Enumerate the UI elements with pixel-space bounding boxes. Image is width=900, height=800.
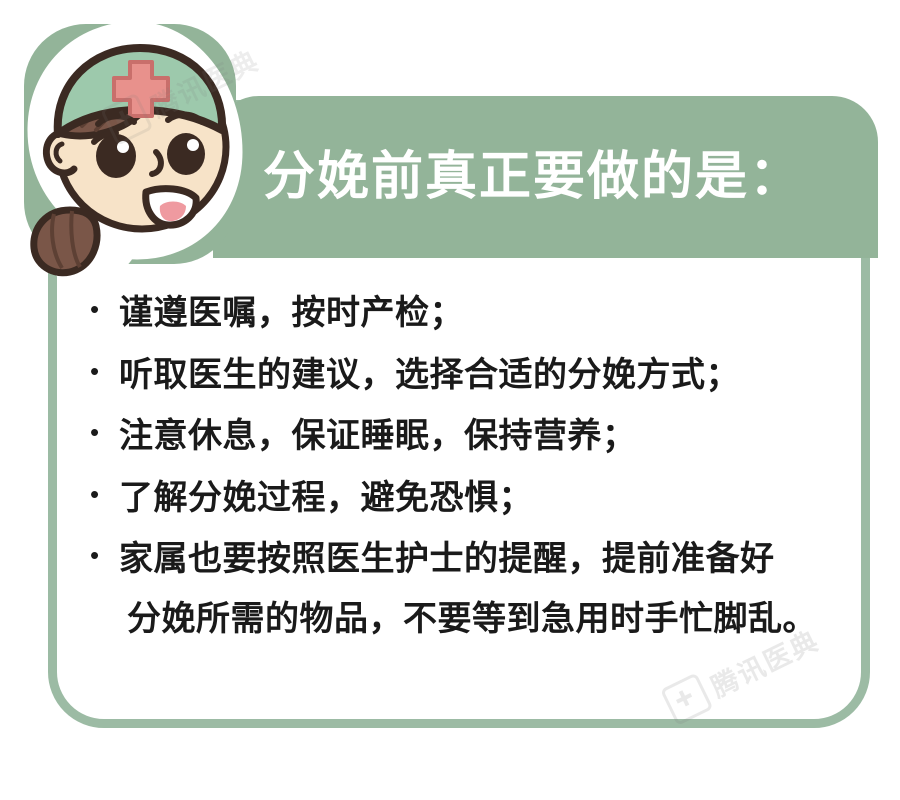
bullet-marker-icon: • <box>90 415 119 432</box>
list-item-text: 了解分娩过程，避免恐惧； <box>119 477 860 521</box>
list-item: • 谨遵医嘱，按时产检； <box>90 292 860 336</box>
list-item: • 注意休息，保证睡眠，保持营养； <box>90 415 860 459</box>
list-item-text-line1: 家属也要按照医生护士的提醒，提前准备好 <box>119 539 775 579</box>
list-item-text: 谨遵医嘱，按时产检； <box>119 292 860 336</box>
bullet-marker-icon: • <box>90 538 119 555</box>
bullet-marker-icon: • <box>90 292 119 309</box>
list-item: • 听取医生的建议，选择合适的分娩方式； <box>90 354 860 398</box>
header-banner: 分娩前真正要做的是： <box>213 96 878 258</box>
poster-root: 分娩前真正要做的是： <box>0 0 900 800</box>
list-item-text: 听取医生的建议，选择合适的分娩方式； <box>119 354 860 398</box>
list-item-text: 家属也要按照医生护士的提醒，提前准备好 分娩所需的物品，不要等到急用时手忙脚乱。 <box>119 538 860 641</box>
bullet-marker-icon: • <box>90 477 119 494</box>
list-item-text: 注意休息，保证睡眠，保持营养； <box>119 415 860 459</box>
list-item: • 家属也要按照医生护士的提醒，提前准备好 分娩所需的物品，不要等到急用时手忙脚… <box>90 538 860 641</box>
list-item-text-line2: 分娩所需的物品，不要等到急用时手忙脚乱。 <box>127 598 860 642</box>
bullet-list: • 谨遵医嘱，按时产检； • 听取医生的建议，选择合适的分娩方式； • 注意休息… <box>90 292 860 659</box>
bullet-marker-icon: • <box>90 354 119 371</box>
page-title: 分娩前真正要做的是： <box>263 151 803 203</box>
list-item: • 了解分娩过程，避免恐惧； <box>90 477 860 521</box>
